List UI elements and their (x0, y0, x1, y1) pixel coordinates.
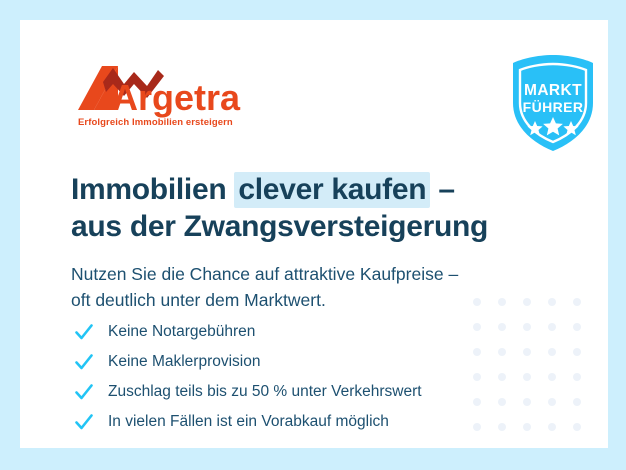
dot (548, 348, 556, 356)
dot (573, 373, 581, 381)
benefits-list: Keine Notargebühren Keine Maklerprovisio… (74, 317, 544, 437)
list-item-label: Keine Notargebühren (108, 323, 255, 340)
dot (548, 323, 556, 331)
list-item: Keine Maklerprovision (74, 347, 544, 377)
headline-line-1: Immobilien clever kaufen – (71, 172, 541, 209)
badge-line2: FÜHRER (523, 99, 584, 115)
subheadline-line-2: oft deutlich unter dem Marktwert. (71, 287, 551, 314)
list-item-label: In vielen Fällen ist ein Vorabkauf mögli… (108, 413, 389, 430)
banner-frame: Argetra Erfolgreich Immobilien ersteiger… (0, 0, 626, 470)
headline-text-post: – (430, 173, 454, 206)
headline-highlight: clever kaufen (234, 172, 430, 208)
argetra-logo[interactable]: Argetra Erfolgreich Immobilien ersteiger… (72, 62, 272, 132)
subheadline-line-1: Nutzen Sie die Chance auf attraktive Kau… (71, 261, 551, 288)
list-item-label: Keine Maklerprovision (108, 353, 261, 370)
banner-card: Argetra Erfolgreich Immobilien ersteiger… (20, 20, 608, 448)
check-icon (74, 322, 94, 342)
subheadline: Nutzen Sie die Chance auf attraktive Kau… (71, 261, 551, 314)
headline-line-2: aus der Zwangsversteigerung (71, 209, 541, 246)
dot (573, 298, 581, 306)
dot (573, 423, 581, 431)
dot (548, 398, 556, 406)
list-item: In vielen Fällen ist ein Vorabkauf mögli… (74, 407, 544, 437)
list-item: Keine Notargebühren (74, 317, 544, 347)
dot (573, 323, 581, 331)
dot (573, 398, 581, 406)
list-item-label: Zuschlag teils bis zu 50 % unter Verkehr… (108, 383, 422, 400)
check-icon (74, 382, 94, 402)
list-item: Zuschlag teils bis zu 50 % unter Verkehr… (74, 377, 544, 407)
badge-line1: MARKT (524, 82, 582, 99)
dot (548, 373, 556, 381)
logo-wordmark: Argetra (112, 77, 241, 118)
logo-tagline: Erfolgreich Immobilien ersteigern (78, 117, 233, 128)
headline-text-pre: Immobilien (71, 173, 234, 206)
dot (548, 423, 556, 431)
dot (573, 348, 581, 356)
check-icon (74, 412, 94, 432)
page-title: Immobilien clever kaufen – aus der Zwang… (71, 172, 541, 246)
check-icon (74, 352, 94, 372)
marktfuehrer-badge: MARKT FÜHRER (507, 53, 599, 153)
